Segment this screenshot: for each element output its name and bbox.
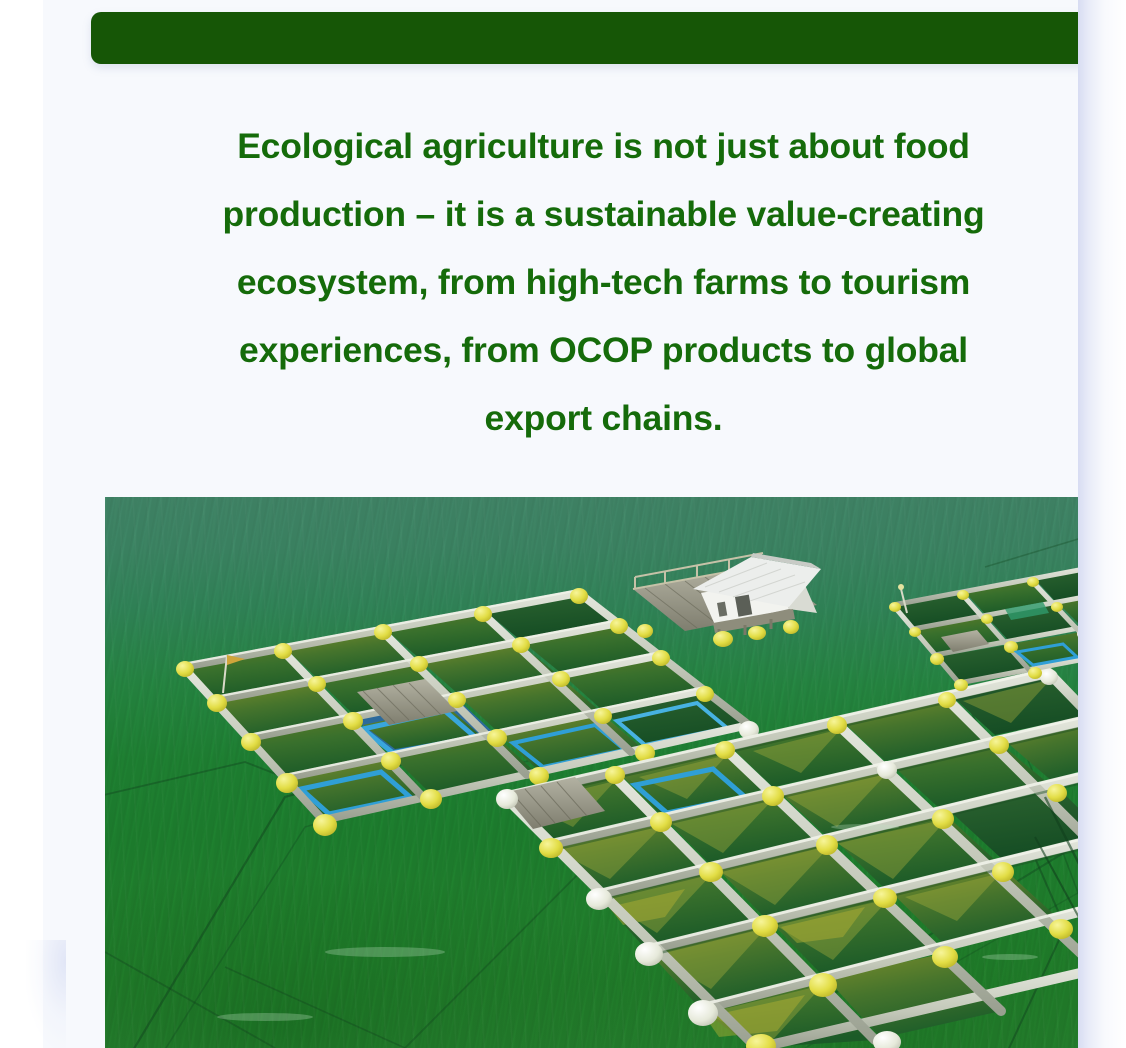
quote-line-3: ecosystem, from high-tech farms to touri… xyxy=(154,248,1053,316)
floating-farm-house xyxy=(633,553,821,647)
content-card: Ecological agriculture is not just about… xyxy=(43,0,1078,1048)
fish-farm-illustration xyxy=(105,497,1078,1048)
header-bar xyxy=(91,12,1078,64)
page-root: Ecological agriculture is not just about… xyxy=(0,0,1126,1048)
photo-water-background xyxy=(105,497,1078,1048)
quote-line-2: production – it is a sustainable value-c… xyxy=(154,180,1053,248)
aquaculture-photo xyxy=(105,497,1078,1048)
quote-line-5: export chains. xyxy=(154,384,1053,452)
quote-line-4: experiences, from OCOP products to globa… xyxy=(154,316,1053,384)
quote-block: Ecological agriculture is not just about… xyxy=(86,112,1078,452)
quote-line-1: Ecological agriculture is not just about… xyxy=(154,112,1053,180)
card-right-shadow xyxy=(1078,0,1126,1048)
